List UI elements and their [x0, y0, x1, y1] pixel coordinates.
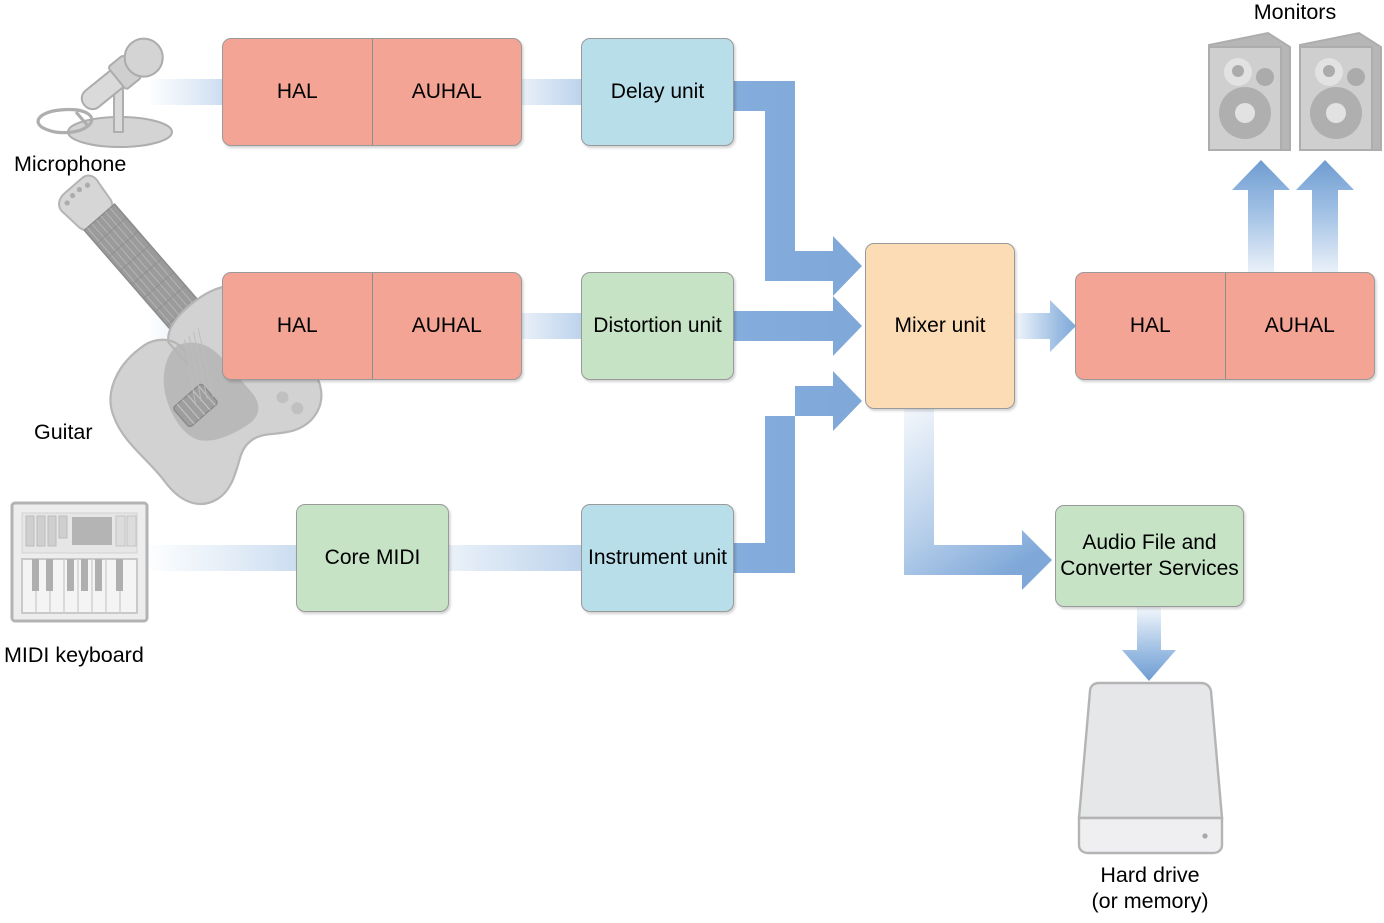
node-hal-label-output: HAL [1076, 273, 1225, 379]
diagram-canvas: HAL AUHAL Delay unit HAL AUHAL Distortio… [0, 0, 1384, 923]
caption-monitors: Monitors [1195, 0, 1384, 26]
node-hal-auhal-input-mic[interactable]: HAL AUHAL [222, 38, 522, 146]
node-hal-label-row2: HAL [223, 273, 372, 379]
node-audio-file-converter-services[interactable]: Audio File and Converter Services [1055, 505, 1244, 607]
connector-coremidi-to-instrument [446, 545, 585, 571]
connector-file-services-to-disk [1122, 606, 1176, 681]
node-hal-auhal-output[interactable]: HAL AUHAL [1075, 272, 1375, 380]
connector-keyboard-to-coremidi [150, 545, 298, 571]
hard-drive-icon [1079, 683, 1222, 853]
connector-instrument-to-mixer [733, 371, 862, 573]
connector-delay-to-mixer [733, 81, 862, 296]
caption-hard-drive: Hard drive (or memory) [1030, 863, 1270, 915]
node-distortion-unit[interactable]: Distortion unit [581, 272, 734, 380]
connector-mic-to-hal [150, 79, 225, 105]
node-hal-auhal-input-guitar[interactable]: HAL AUHAL [222, 272, 522, 380]
connector-hal-to-distortion [518, 313, 584, 339]
connector-distortion-to-mixer [733, 296, 862, 356]
node-mixer-unit[interactable]: Mixer unit [865, 243, 1015, 409]
connector-mixer-to-file-services [904, 400, 1052, 590]
node-auhal-label-row1: AUHAL [372, 39, 522, 145]
midi-keyboard-icon [12, 503, 147, 621]
node-hal-label-row1: HAL [223, 39, 372, 145]
node-instrument-unit[interactable]: Instrument unit [581, 504, 734, 612]
node-core-midi[interactable]: Core MIDI [296, 504, 449, 612]
node-auhal-label-row2: AUHAL [372, 273, 522, 379]
node-auhal-label-output: AUHAL [1225, 273, 1375, 379]
connector-auhal-to-monitor-right [1296, 160, 1354, 280]
node-delay-unit[interactable]: Delay unit [581, 38, 734, 146]
caption-microphone: Microphone [14, 152, 214, 178]
caption-midi-keyboard: MIDI keyboard [4, 643, 244, 669]
caption-guitar: Guitar [34, 420, 234, 446]
connector-mixer-to-output-hal [1014, 300, 1076, 352]
studio-monitor-speaker-icon-left [1209, 33, 1290, 150]
connector-hal-to-delay [518, 79, 584, 105]
studio-monitor-speaker-icon-right [1300, 33, 1381, 150]
connector-auhal-to-monitor-left [1232, 160, 1290, 280]
